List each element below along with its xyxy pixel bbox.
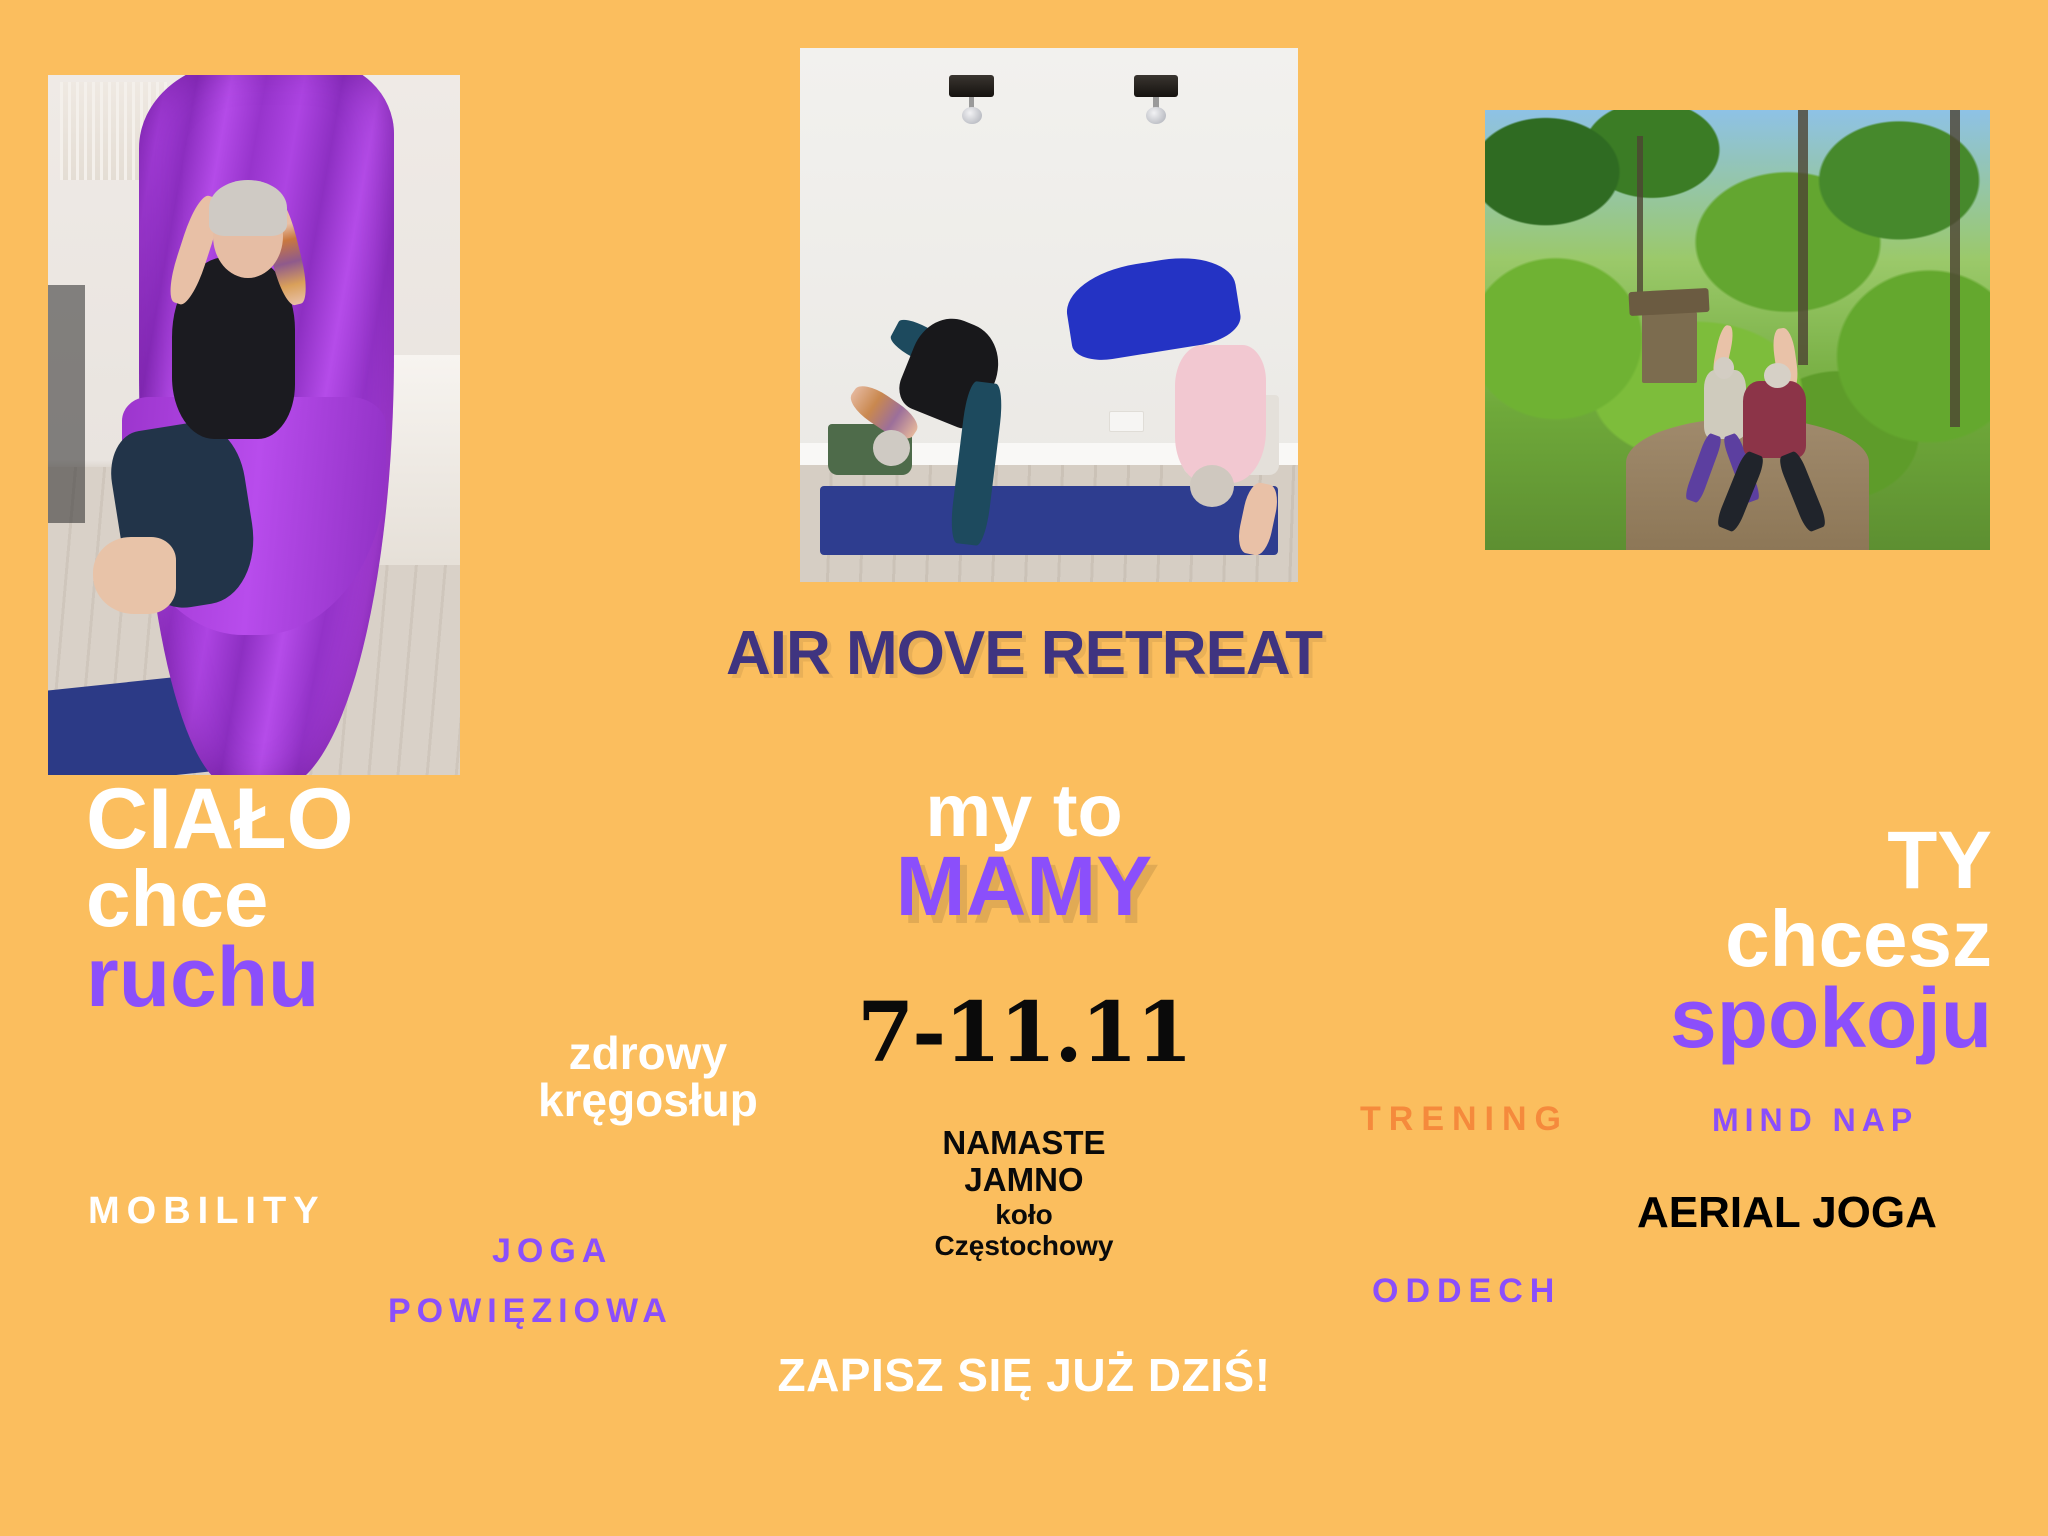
person-feet (93, 537, 175, 614)
forest-yoga-photo (1485, 110, 1990, 550)
partner-yoga-photo (800, 48, 1298, 582)
pink-shirt (1175, 345, 1267, 483)
cta-signup-text: ZAPISZ SIĘ JUŻ DZIŚ! (0, 1348, 2048, 1402)
poster-canvas: AIR MOVE RETREAT CIAŁO chce ruchu my to … (0, 0, 2048, 1536)
person-warrior-pose-front (1727, 356, 1823, 532)
keyword-joga: JOGA (492, 1232, 612, 1271)
keyword-joga-powieziowa: POWIĘZIOWA (388, 1292, 673, 1331)
head (873, 430, 910, 466)
keyword-oddech: ODDECH (1372, 1272, 1561, 1311)
person-downward-dog (860, 315, 1079, 555)
right-leg (1776, 450, 1828, 534)
tree-trunk (1798, 110, 1808, 365)
event-date: 7-11.11 (0, 985, 2048, 1081)
keyword-aerial-joga: AERIAL JOGA (1637, 1188, 1937, 1238)
wooden-shrine (1642, 312, 1698, 382)
keyword-trening: TRENING (1360, 1100, 1569, 1139)
lamp-shade (1134, 75, 1179, 97)
keyword-mobility: MOBILITY (88, 1190, 326, 1233)
support-arm (1235, 480, 1281, 557)
lamp-bulb (962, 107, 982, 124)
lamp-shade (949, 75, 994, 97)
wall-sconce-icon (1134, 75, 1179, 128)
shelf (48, 285, 85, 523)
wall-sconce-icon (949, 75, 994, 128)
head (1190, 465, 1234, 507)
right-slogan-line-1: TY (1670, 822, 1992, 901)
person-hair (209, 180, 287, 236)
right-slogan-line-2: chcesz (1670, 901, 1992, 978)
jacket (1743, 381, 1806, 458)
keyword-zdrowy-kregoslup-line-2: kręgosłup (538, 1077, 758, 1124)
tree-trunk (1950, 110, 1960, 427)
keyword-zdrowy-kregoslup-line-1: zdrowy (538, 1030, 758, 1077)
keyword-mind-nap: MIND NAP (1712, 1102, 1918, 1139)
person-inverted (1079, 262, 1278, 561)
lamp-bulb (1146, 107, 1166, 124)
page-title: AIR MOVE RETREAT (0, 618, 2048, 689)
tree-trunk (1637, 136, 1643, 312)
head (1764, 363, 1791, 388)
keyword-zdrowy-kregoslup: zdrowy kręgosłup (538, 1030, 758, 1124)
